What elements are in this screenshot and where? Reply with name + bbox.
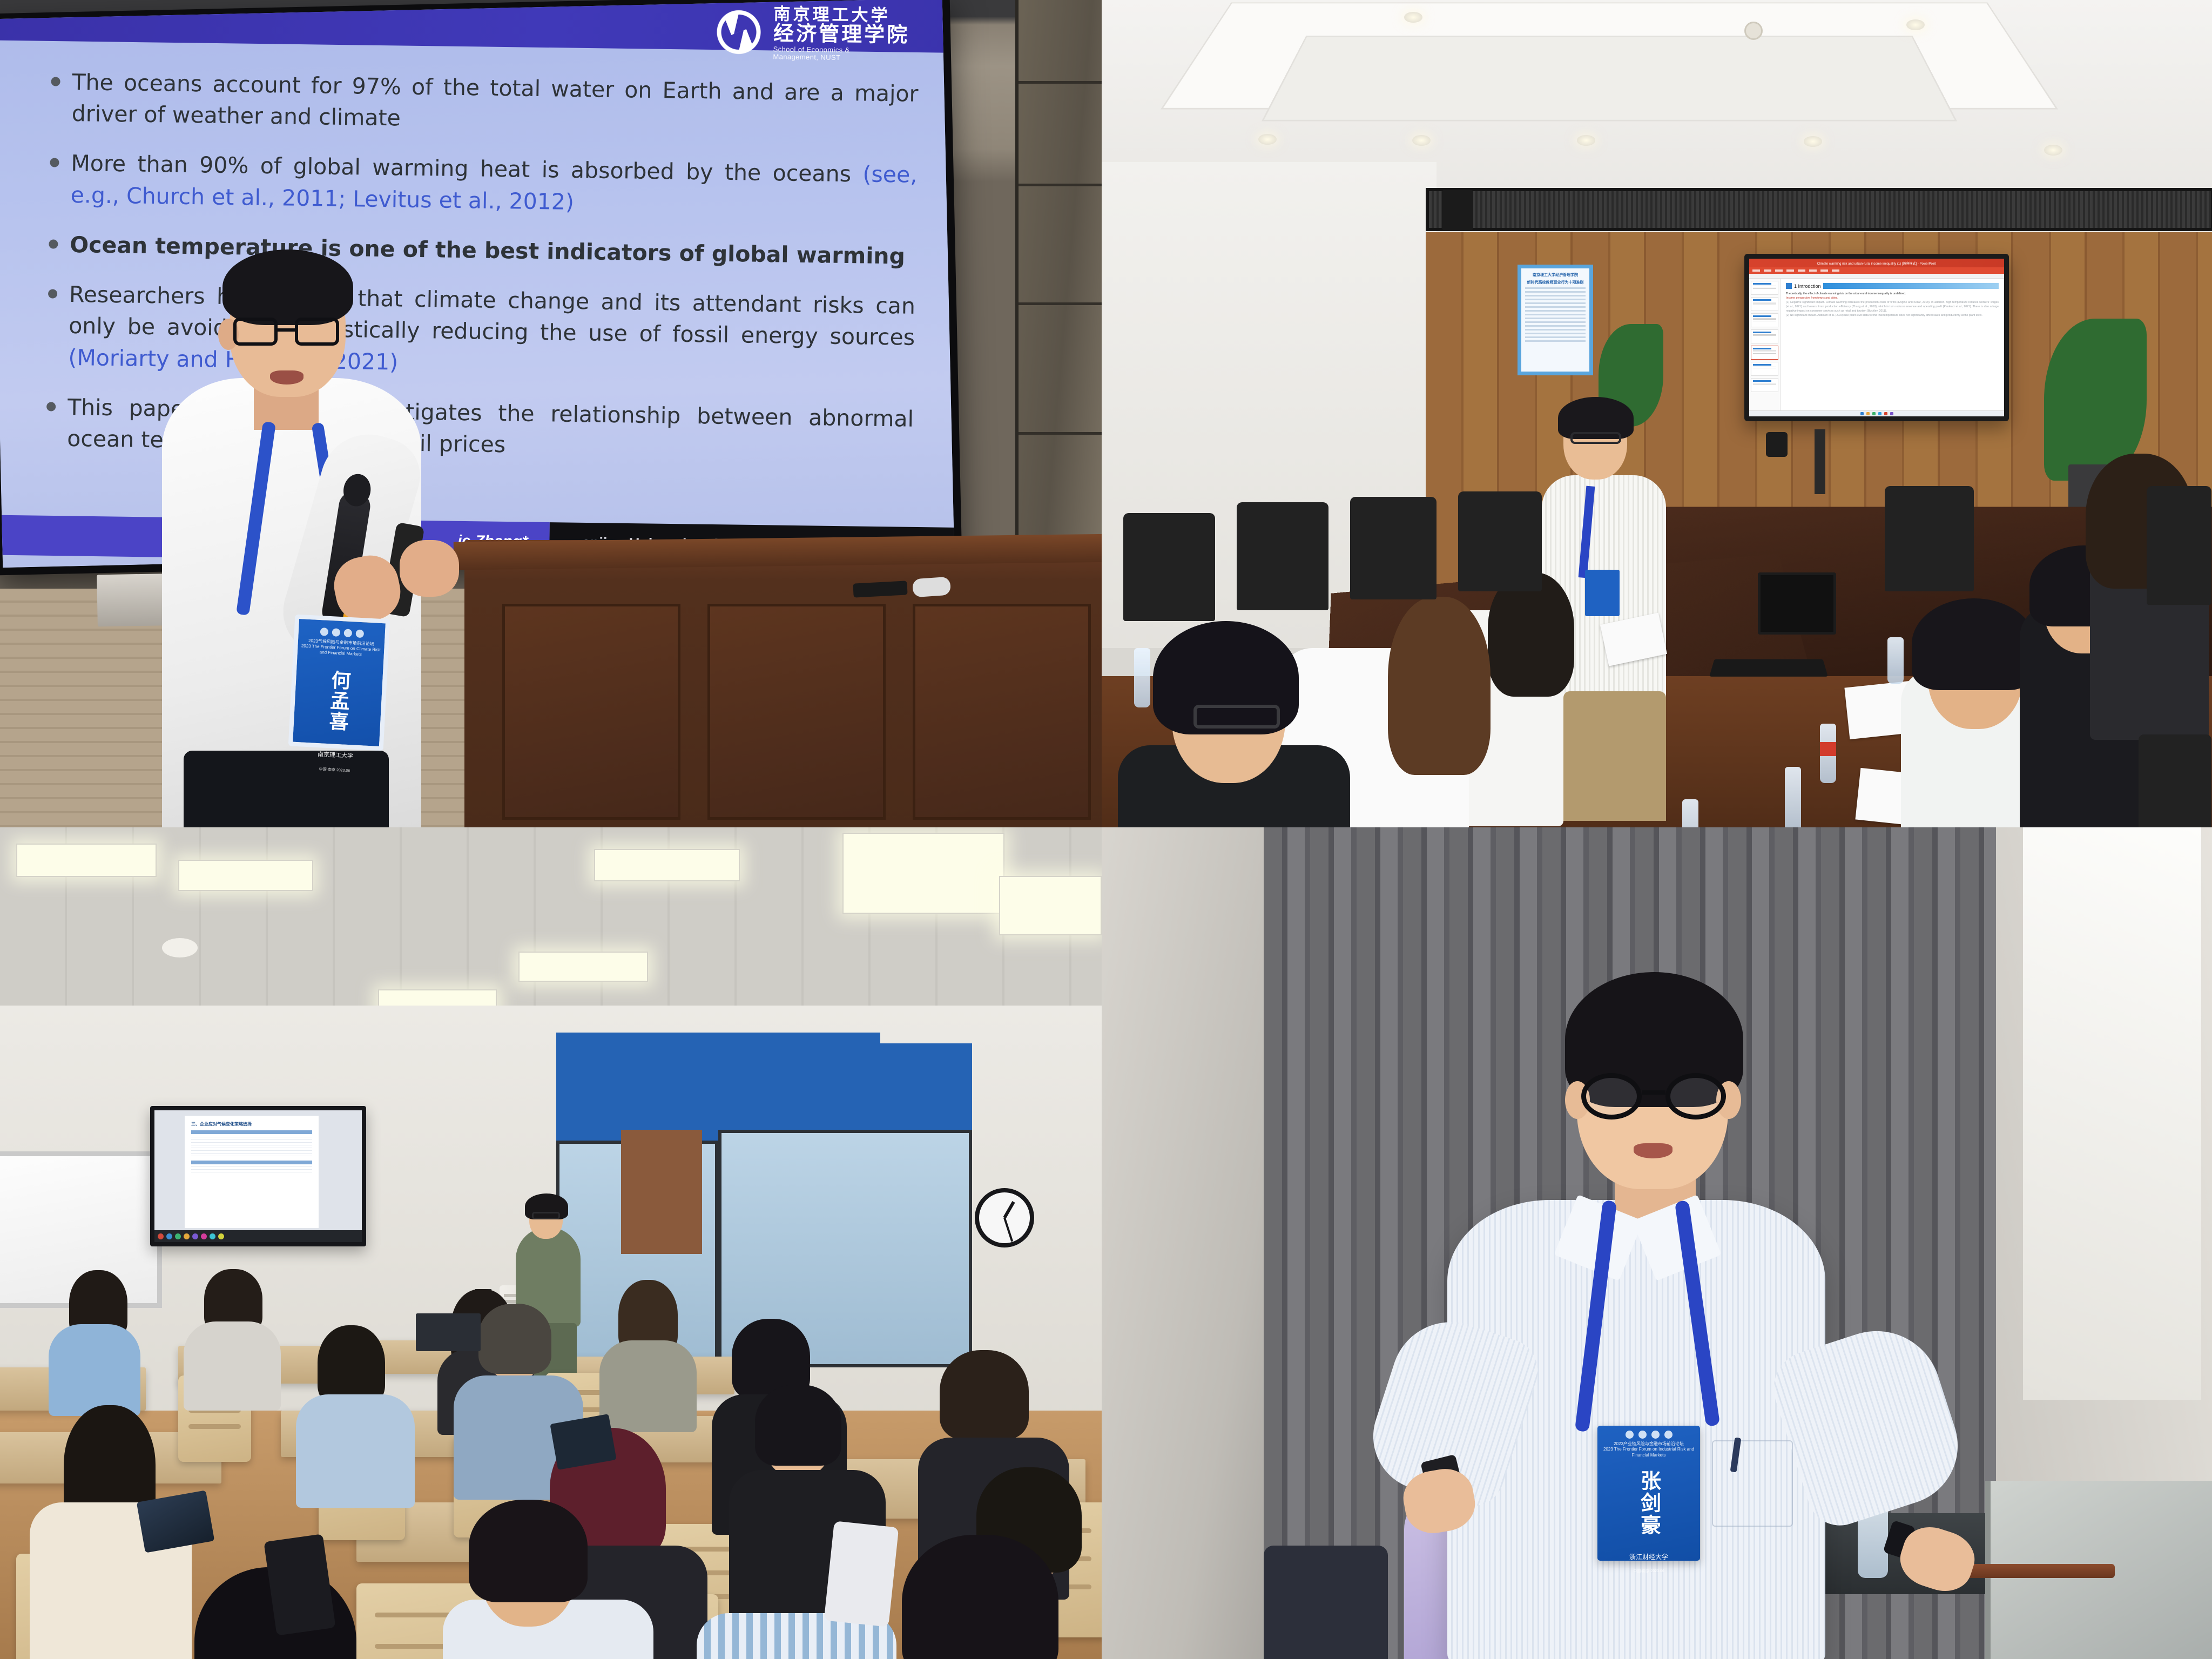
water-bottle: [1134, 648, 1150, 707]
badge-name: 何孟喜: [326, 670, 350, 732]
ceiling-spotlight: [1577, 135, 1595, 146]
slide-heading: 1 Introdction: [1794, 284, 1821, 289]
panel-portrait-speaker: 2023产业链风险与金融市场前沿论坛 2023 The Frontier For…: [1102, 827, 2212, 1659]
ceiling-light: [999, 876, 1102, 935]
poster-subtitle: 南京理工大学经济管理学院: [1525, 272, 1586, 278]
ceiling-light: [178, 860, 313, 891]
slide-bullet: More than 90% of global warming heat is …: [49, 147, 917, 222]
left-wall: [1102, 827, 1274, 1659]
audience-torso: [184, 1321, 281, 1411]
badge-sponsor-icons: [302, 626, 382, 639]
logo-university-cn: 南京理工大学: [773, 5, 909, 25]
attendee-glasses-icon: [1193, 705, 1280, 729]
audience-hair: [478, 1304, 551, 1374]
classroom-slide-heading: 三、企业应对气候变化策略选择: [191, 1121, 312, 1127]
slide-paragraph-3: (1) Negative significant impact. Climate…: [1786, 300, 1999, 313]
lecturer-glasses-icon: [532, 1212, 560, 1219]
slide-paragraph-2: Income perspective from towns and cities…: [1786, 296, 1999, 300]
slide-thumbnail: [1751, 362, 1778, 376]
audience-torso: [49, 1324, 140, 1416]
slide-thumbnail: [1751, 297, 1778, 311]
powerpoint-window: Climate warming risk and urban-rural inc…: [1749, 259, 2004, 416]
wall-notice-poster: 南京理工大学经济管理学院 新时代高校教师职业行为十项准则: [1518, 265, 1593, 375]
podium: [464, 540, 1102, 827]
office-chair: [1350, 497, 1437, 599]
badge-event-en: 2023 The Frontier Forum on Industrial Ri…: [1601, 1447, 1697, 1458]
bullet-text-2: More than 90% of global warming heat is …: [70, 147, 917, 222]
panel-seminar-room: 南京理工大学经济管理学院 新时代高校教师职业行为十项准则 Climate war…: [1102, 0, 2212, 827]
speaker-name-badge: 2023产业链风险与金融市场前沿论坛 2023 The Frontier For…: [1597, 1426, 1700, 1561]
smartphone[interactable]: [824, 1521, 899, 1627]
projection-screen: 南京理工大学 经济管理学院 School of Economics & Mana…: [0, 0, 962, 575]
audience-hair: [902, 1535, 1058, 1659]
audience-hair: [469, 1500, 588, 1602]
ceiling-light: [842, 833, 1004, 914]
windows-taskbar[interactable]: [1749, 410, 2004, 416]
slide-bullet: Researchers have found that climate chan…: [47, 278, 915, 385]
office-chair: [2147, 486, 2211, 605]
audience-torso: [296, 1394, 415, 1508]
office-chair: [1123, 513, 1215, 621]
slide-surface: 南京理工大学 经济管理学院 School of Economics & Mana…: [0, 0, 954, 568]
badge-name: 张剑豪: [1634, 1470, 1664, 1536]
office-chair: [1458, 491, 1542, 591]
bullet-text-3: Ocean temperature is one of the best ind…: [70, 229, 905, 272]
ceiling-spotlight: [2044, 145, 2062, 156]
speaker-mouth: [1634, 1143, 1673, 1158]
heading-square-icon: [1786, 283, 1792, 289]
classroom-display: 三、企业应对气候变化策略选择: [150, 1106, 366, 1246]
bullet-dot-icon: [46, 402, 56, 411]
logo-school-cn: 经济管理学院: [773, 23, 910, 47]
speaker-glasses-icon: [233, 318, 339, 346]
ceiling-spotlight: [1412, 135, 1431, 146]
slide-bullet: The oceans account for 97% of the total …: [50, 66, 918, 141]
badge-sponsor-icons: [1601, 1431, 1697, 1439]
slide-thumbnail-selected: [1751, 346, 1778, 360]
podium-panel: [913, 604, 1091, 820]
speaker-name-badge: 2023气候风险与金融市场前沿论坛 2023 The Frontier Foru…: [288, 615, 390, 751]
nust-logo: 南京理工大学 经济管理学院 School of Economics & Mana…: [712, 4, 909, 62]
shirt-pocket: [1712, 1440, 1793, 1527]
window-title-bar: Climate warming risk and urban-rural inc…: [1749, 259, 2004, 267]
ppt-tab-bar[interactable]: [1749, 274, 2004, 279]
data-table: [191, 1130, 312, 1156]
photo-collage: 南京理工大学 经济管理学院 School of Economics & Mana…: [0, 0, 2212, 1659]
audience-hair: [755, 1385, 841, 1466]
badge-event-cn: 2023产业链风险与金融市场前沿论坛: [1601, 1441, 1697, 1447]
slide-canvas: 1 Introdction Theoretically, the effect …: [1781, 279, 2004, 410]
ceiling-spotlight: [1258, 134, 1277, 145]
ceiling-spotlight: [1906, 19, 1925, 30]
bullet-dot-icon: [51, 77, 60, 86]
exterior-brick-wall: [621, 1130, 702, 1254]
podium-panel: [502, 604, 680, 820]
ceiling-light: [16, 844, 157, 877]
attendee-hair: [1912, 598, 2036, 690]
nust-emblem-icon: [712, 6, 765, 58]
ceiling-spotlight: [1404, 12, 1422, 23]
slide-thumbnail: [1751, 378, 1778, 392]
office-chair: [1237, 502, 1328, 610]
ceiling-panel: [1262, 36, 1957, 121]
ceiling-light: [518, 952, 648, 982]
office-chair: [1885, 486, 1974, 591]
clock-minute-hand: [1003, 1217, 1013, 1242]
slide-thumbnail: [1751, 329, 1778, 343]
wall-speaker: [1442, 190, 1473, 230]
speaker-mouth: [270, 370, 304, 385]
laptop[interactable]: [416, 1313, 481, 1351]
ceiling-smoke-detector-icon: [162, 938, 198, 957]
classroom-screen: 三、企业应对气候变化策略选择: [154, 1110, 362, 1242]
chair: [1264, 1546, 1388, 1659]
data-table: [191, 1161, 312, 1173]
poster-title: 新时代高校教师职业行为十项准则: [1525, 280, 1586, 285]
ceiling-spotlight: [1804, 136, 1822, 147]
podium-panel: [707, 604, 886, 820]
speaker-hair: [222, 249, 353, 325]
hall-side-panel: [1015, 0, 1102, 594]
presentation-remote: [853, 581, 907, 597]
water-bottle: [1887, 637, 1904, 684]
window-title: Climate warming risk and urban-rural inc…: [1817, 261, 1936, 266]
slide-thumbnail-pane[interactable]: [1749, 279, 1781, 410]
taskbar-dock[interactable]: [154, 1230, 362, 1242]
microphone-stand: [1815, 429, 1825, 494]
slide-paragraph-1: Theoretically, the effect of climate war…: [1786, 292, 1999, 296]
ceiling-vent-grille: [1426, 188, 2212, 231]
bullet-text-1: The oceans account for 97% of the total …: [71, 66, 918, 141]
water-bottle: [1682, 799, 1698, 827]
audience-hair: [940, 1350, 1029, 1439]
panel-lecture-hall: 南京理工大学 经济管理学院 School of Economics & Mana…: [0, 0, 1102, 827]
speaker-hand-right: [400, 540, 459, 597]
slide-bullet: Ocean temperature is one of the best ind…: [49, 228, 916, 272]
smoke-detector-icon: [1744, 22, 1763, 40]
logo-school-en-2: Management, NUST: [773, 53, 909, 62]
keyboard: [1709, 659, 1828, 677]
water-bottle: [1820, 724, 1836, 783]
water-bottle: [1785, 767, 1801, 827]
desktop-monitor: [1758, 572, 1836, 635]
speaker-glasses-icon: [1581, 1073, 1726, 1120]
seminar-display: Climate warming risk and urban-rural inc…: [1744, 254, 2009, 421]
audience-torso: [599, 1340, 697, 1432]
bullet-dot-icon: [50, 158, 59, 167]
presenter-badge: [1585, 570, 1620, 616]
panel-classroom: 三、企业应对气候变化策略选择: [0, 827, 1102, 1659]
presenter-glasses-icon: [1570, 432, 1621, 444]
badge-affiliation: 浙江财经大学: [1601, 1552, 1697, 1561]
presenter-trousers: [1563, 691, 1666, 821]
bullet-text-4: Researchers have found that climate chan…: [68, 279, 915, 385]
ceiling-light: [594, 849, 740, 881]
presentation-document: 三、企业应对气候变化策略选择: [185, 1116, 319, 1228]
computer-mouse: [912, 577, 951, 598]
attendee-hair: [1388, 597, 1491, 775]
wall-clock: [975, 1188, 1034, 1247]
heading-gradient-bar: [1823, 283, 1999, 289]
conference-camera-icon: [1766, 432, 1788, 457]
room-window: [2023, 827, 2201, 1400]
bullet-dot-icon: [49, 239, 58, 248]
speaker-shorts: [184, 751, 389, 827]
ribbon-toolbar[interactable]: [1749, 267, 2004, 274]
slide-paragraph-4: (2) No significant impact. Addoum et al.…: [1786, 313, 1999, 318]
badge-footer: 中国·南京 2023.06: [1601, 1569, 1697, 1574]
slide-thumbnail: [1751, 281, 1778, 295]
slide-thumbnail: [1751, 313, 1778, 327]
bullet-dot-icon: [48, 289, 57, 298]
clock-hour-hand: [1003, 1201, 1015, 1218]
office-chair: [2139, 734, 2211, 827]
